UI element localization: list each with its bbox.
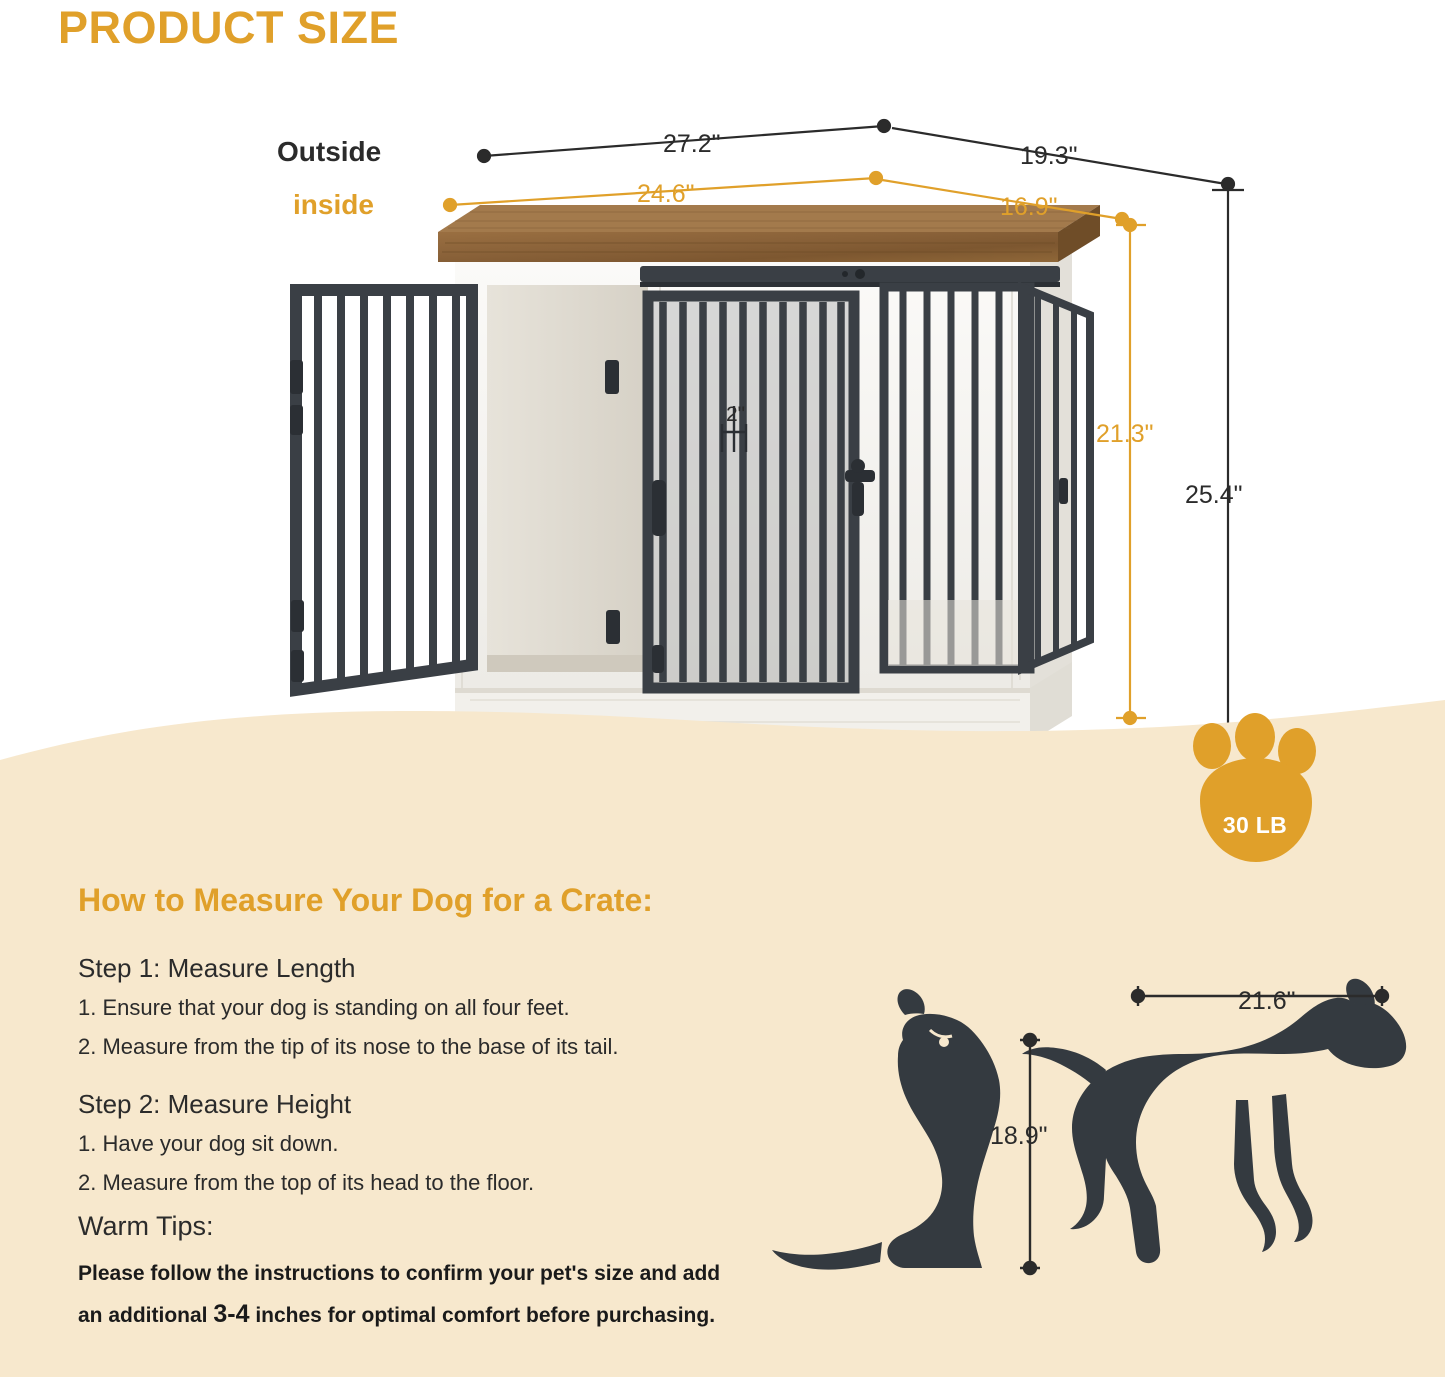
product-size-panel: PRODUCT SIZE Outside inside 27.2" 19.3" …	[0, 0, 1445, 760]
howto-heading: How to Measure Your Dog for a Crate:	[78, 882, 653, 919]
step1-line-2: 2. Measure from the tip of its nose to t…	[78, 1034, 619, 1060]
warm-tips-title: Warm Tips:	[78, 1211, 214, 1242]
step2-line-1: 1. Have your dog sit down.	[78, 1131, 338, 1157]
dimension-inside-width: 24.6"	[637, 180, 695, 209]
crate-illustration	[0, 0, 1445, 760]
warm-tips-line-2: an additional 3-4 inches for optimal com…	[78, 1300, 715, 1329]
label-inside: inside	[293, 189, 374, 221]
weight-badge-label: 30 LB	[1196, 812, 1314, 839]
dimension-outside-width: 27.2"	[663, 130, 721, 159]
warm-tips-line-1: Please follow the instructions to confir…	[78, 1262, 720, 1286]
step1-title: Step 1: Measure Length	[78, 953, 356, 984]
page-title: PRODUCT SIZE	[58, 2, 399, 54]
dimension-bar-gap: 2"	[726, 403, 745, 427]
step2-line-2: 2. Measure from the top of its head to t…	[78, 1170, 534, 1196]
warm-tips-line2-pre: an additional	[78, 1304, 213, 1327]
dimension-dog-length: 21.6"	[1238, 987, 1296, 1016]
dimension-dog-height: 18.9"	[990, 1122, 1048, 1151]
step2-title: Step 2: Measure Height	[78, 1089, 351, 1120]
dimension-inside-height: 21.3"	[1096, 420, 1154, 449]
dimension-outside-depth: 19.3"	[1020, 142, 1078, 171]
dimension-outside-height: 25.4"	[1185, 481, 1243, 510]
warm-tips-inches: 3-4	[213, 1300, 249, 1328]
label-outside: Outside	[277, 136, 381, 168]
step1-line-1: 1. Ensure that your dog is standing on a…	[78, 995, 570, 1021]
warm-tips-line2-post: inches for optimal comfort before purcha…	[249, 1304, 715, 1327]
dimension-inside-depth: 16.9"	[1000, 193, 1058, 222]
